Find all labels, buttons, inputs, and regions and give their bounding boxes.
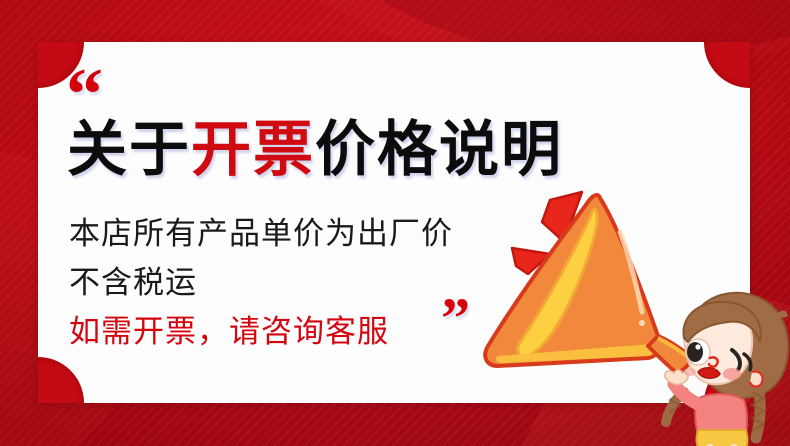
body-text-block: 本店所有产品单价为出厂价 不含税运 如需开票，请咨询客服 [69,209,453,356]
body-line-2: 不含税运 [69,258,453,307]
card-notch-top-right [704,42,750,88]
girl-announcer-illustration [640,280,790,446]
card-notch-top-left [38,42,84,88]
body-line-1: 本店所有产品单价为出厂价 [69,209,453,258]
page-title-highlight: 开票 [191,116,315,183]
page-title-prefix: 关于 [67,116,191,183]
page-title-suffix: 价格说明 [315,116,563,183]
body-line-3: 如需开票，请咨询客服 [69,307,453,356]
promotional-banner: “ 关于开票价格说明 本店所有产品单价为出厂价 不含税运 如需开票，请咨询客服 … [0,0,790,446]
page-title: 关于开票价格说明 [67,116,563,183]
close-quote-mark: ” [441,290,467,348]
card-notch-bottom-left [38,357,84,403]
